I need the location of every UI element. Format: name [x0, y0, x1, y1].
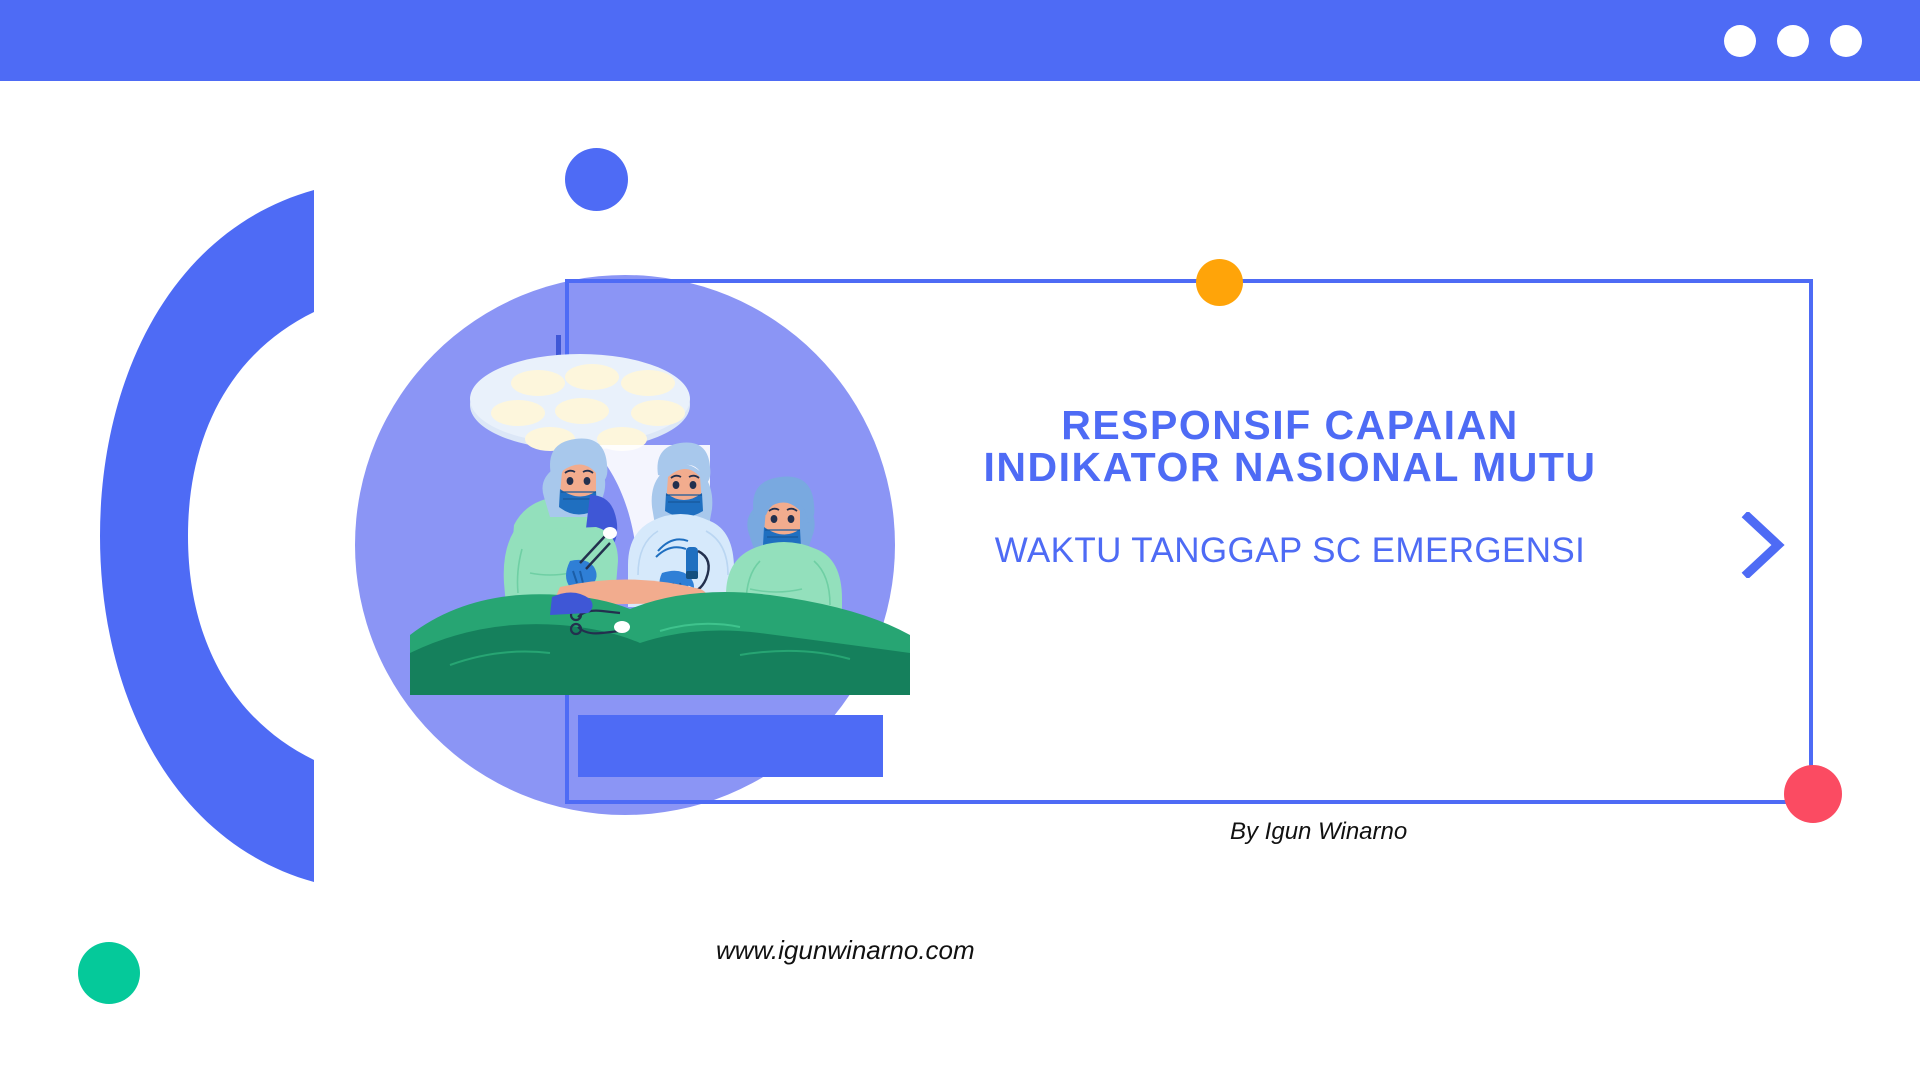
author-byline: By Igun Winarno: [1230, 818, 1407, 846]
blue-circle-decoration: [565, 148, 628, 211]
operating-room-illustration: [410, 335, 910, 695]
slide-text-block: RESPONSIF CAPAIAN INDIKATOR NASIONAL MUT…: [880, 405, 1700, 571]
red-circle-decoration: [1784, 765, 1842, 823]
page-title: RESPONSIF CAPAIAN INDIKATOR NASIONAL MUT…: [880, 405, 1700, 489]
green-circle-decoration: [78, 942, 140, 1004]
blue-accent-block: [578, 715, 883, 777]
orange-circle-decoration: [1196, 259, 1243, 306]
slide-root: RESPONSIF CAPAIAN INDIKATOR NASIONAL MUT…: [0, 0, 1920, 1080]
window-dot-1-icon[interactable]: [1724, 25, 1756, 57]
page-subtitle: WAKTU TANGGAP SC EMERGENSI: [880, 531, 1700, 571]
window-dot-3-icon[interactable]: [1830, 25, 1862, 57]
window-titlebar: [0, 0, 1920, 81]
chevron-right-icon[interactable]: [1740, 512, 1786, 578]
website-url: www.igunwinarno.com: [716, 935, 975, 966]
window-dots-group: [1724, 25, 1862, 57]
window-dot-2-icon[interactable]: [1777, 25, 1809, 57]
